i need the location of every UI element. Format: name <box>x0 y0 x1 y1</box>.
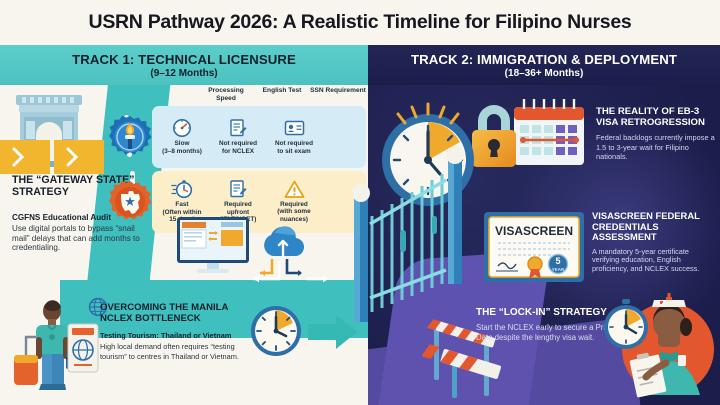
wall-clock-icon <box>248 303 304 359</box>
visascreen-body: A mandatory 5-year certificate verifying… <box>592 248 718 275</box>
visascreen-heading: VISASCREEN FEDERAL CREDENTIALS ASSESSMEN… <box>592 211 718 243</box>
track1-duration: (9–12 Months) <box>150 68 217 79</box>
infographic-canvas: USRN Pathway 2026: A Realistic Timeline … <box>0 0 720 405</box>
eb3-heading: THE REALITY OF EB-3 VISA RETROGRESSION <box>596 107 716 128</box>
manila-bottleneck-block: OVERCOMING THE MANILA NCLEX BOTTLENECK T… <box>100 303 260 361</box>
document-pencil-icon <box>229 179 247 199</box>
svg-text:YEAR: YEAR <box>552 267 565 272</box>
torch-seal-badge <box>108 115 152 159</box>
track2-heading: TRACK 2: IMMIGRATION & DEPLOYMENT <box>411 52 677 67</box>
page-title: USRN Pathway 2026: A Realistic Timeline … <box>89 11 632 34</box>
table-row: Slow (3–8 months) Not required for NCLEX <box>152 106 366 168</box>
manila-body: High local demand often requires “testin… <box>100 342 260 360</box>
eb3-body: Federal backlogs currently impose a 1.5 … <box>596 133 716 160</box>
eb3-retrogression-block: THE REALITY OF EB-3 VISA RETROGRESSION F… <box>596 107 716 161</box>
warning-triangle-icon <box>284 180 305 199</box>
cell-english-test-not-required: Not required for NCLEX <box>210 118 266 155</box>
passport-icon <box>62 320 104 376</box>
track1-header: TRACK 1: TECHNICAL LICENSURE (9–12 Month… <box>0 45 368 85</box>
gate-with-posts-icon <box>336 98 486 328</box>
gateway-body: Use digital portals to bypass “snail mai… <box>12 224 140 254</box>
id-card-icon <box>284 118 305 138</box>
manila-subheading: Testing Tourism: Thailand or Vietnam <box>100 331 260 340</box>
cell-label: Slow (3–8 months) <box>162 140 202 155</box>
speedometer-icon <box>172 118 192 138</box>
column-header-english-test: English Test <box>254 87 310 103</box>
comparison-table: Processing Speed English Test SSN Requir… <box>152 87 366 233</box>
cell-label: Not required to sit exam <box>275 140 313 155</box>
cell-processing-speed-slow: Slow (3–8 months) <box>154 118 210 155</box>
arrow-chevron-tiles-icon <box>0 140 104 174</box>
manila-heading: OVERCOMING THE MANILA NCLEX BOTTLENECK <box>100 303 260 324</box>
comparison-header-row: Processing Speed English Test SSN Requir… <box>152 87 366 103</box>
track2-duration: (18–36+ Months) <box>505 68 584 79</box>
certificate-title: VISASCREEN <box>495 224 573 238</box>
cell-label: Not required for NCLEX <box>219 140 257 155</box>
document-pencil-icon <box>229 118 247 138</box>
cell-ssn-not-required: Not required to sit exam <box>266 118 322 155</box>
track1-heading: TRACK 1: TECHNICAL LICENSURE <box>72 52 296 67</box>
texas-seal-badge <box>108 180 152 224</box>
desktop-monitor-cloud-sync-icon <box>175 215 335 295</box>
stopwatch-fast-icon <box>171 179 193 199</box>
track1-panel: THE “GATEWAY STATE” STRATEGY CGFNS Educa… <box>0 85 368 405</box>
track2-header: TRACK 2: IMMIGRATION & DEPLOYMENT (18–36… <box>368 45 720 85</box>
visascreen-block: VISASCREEN FEDERAL CREDENTIALS ASSESSMEN… <box>592 211 718 274</box>
nurse-with-clipboard-icon <box>600 293 718 405</box>
visascreen-certificate-icon: VISASCREEN 5 YEAR <box>482 210 586 288</box>
title-bar: USRN Pathway 2026: A Realistic Timeline … <box>0 0 720 45</box>
svg-text:5: 5 <box>555 256 560 266</box>
column-header-processing-speed: Processing Speed <box>198 87 254 103</box>
